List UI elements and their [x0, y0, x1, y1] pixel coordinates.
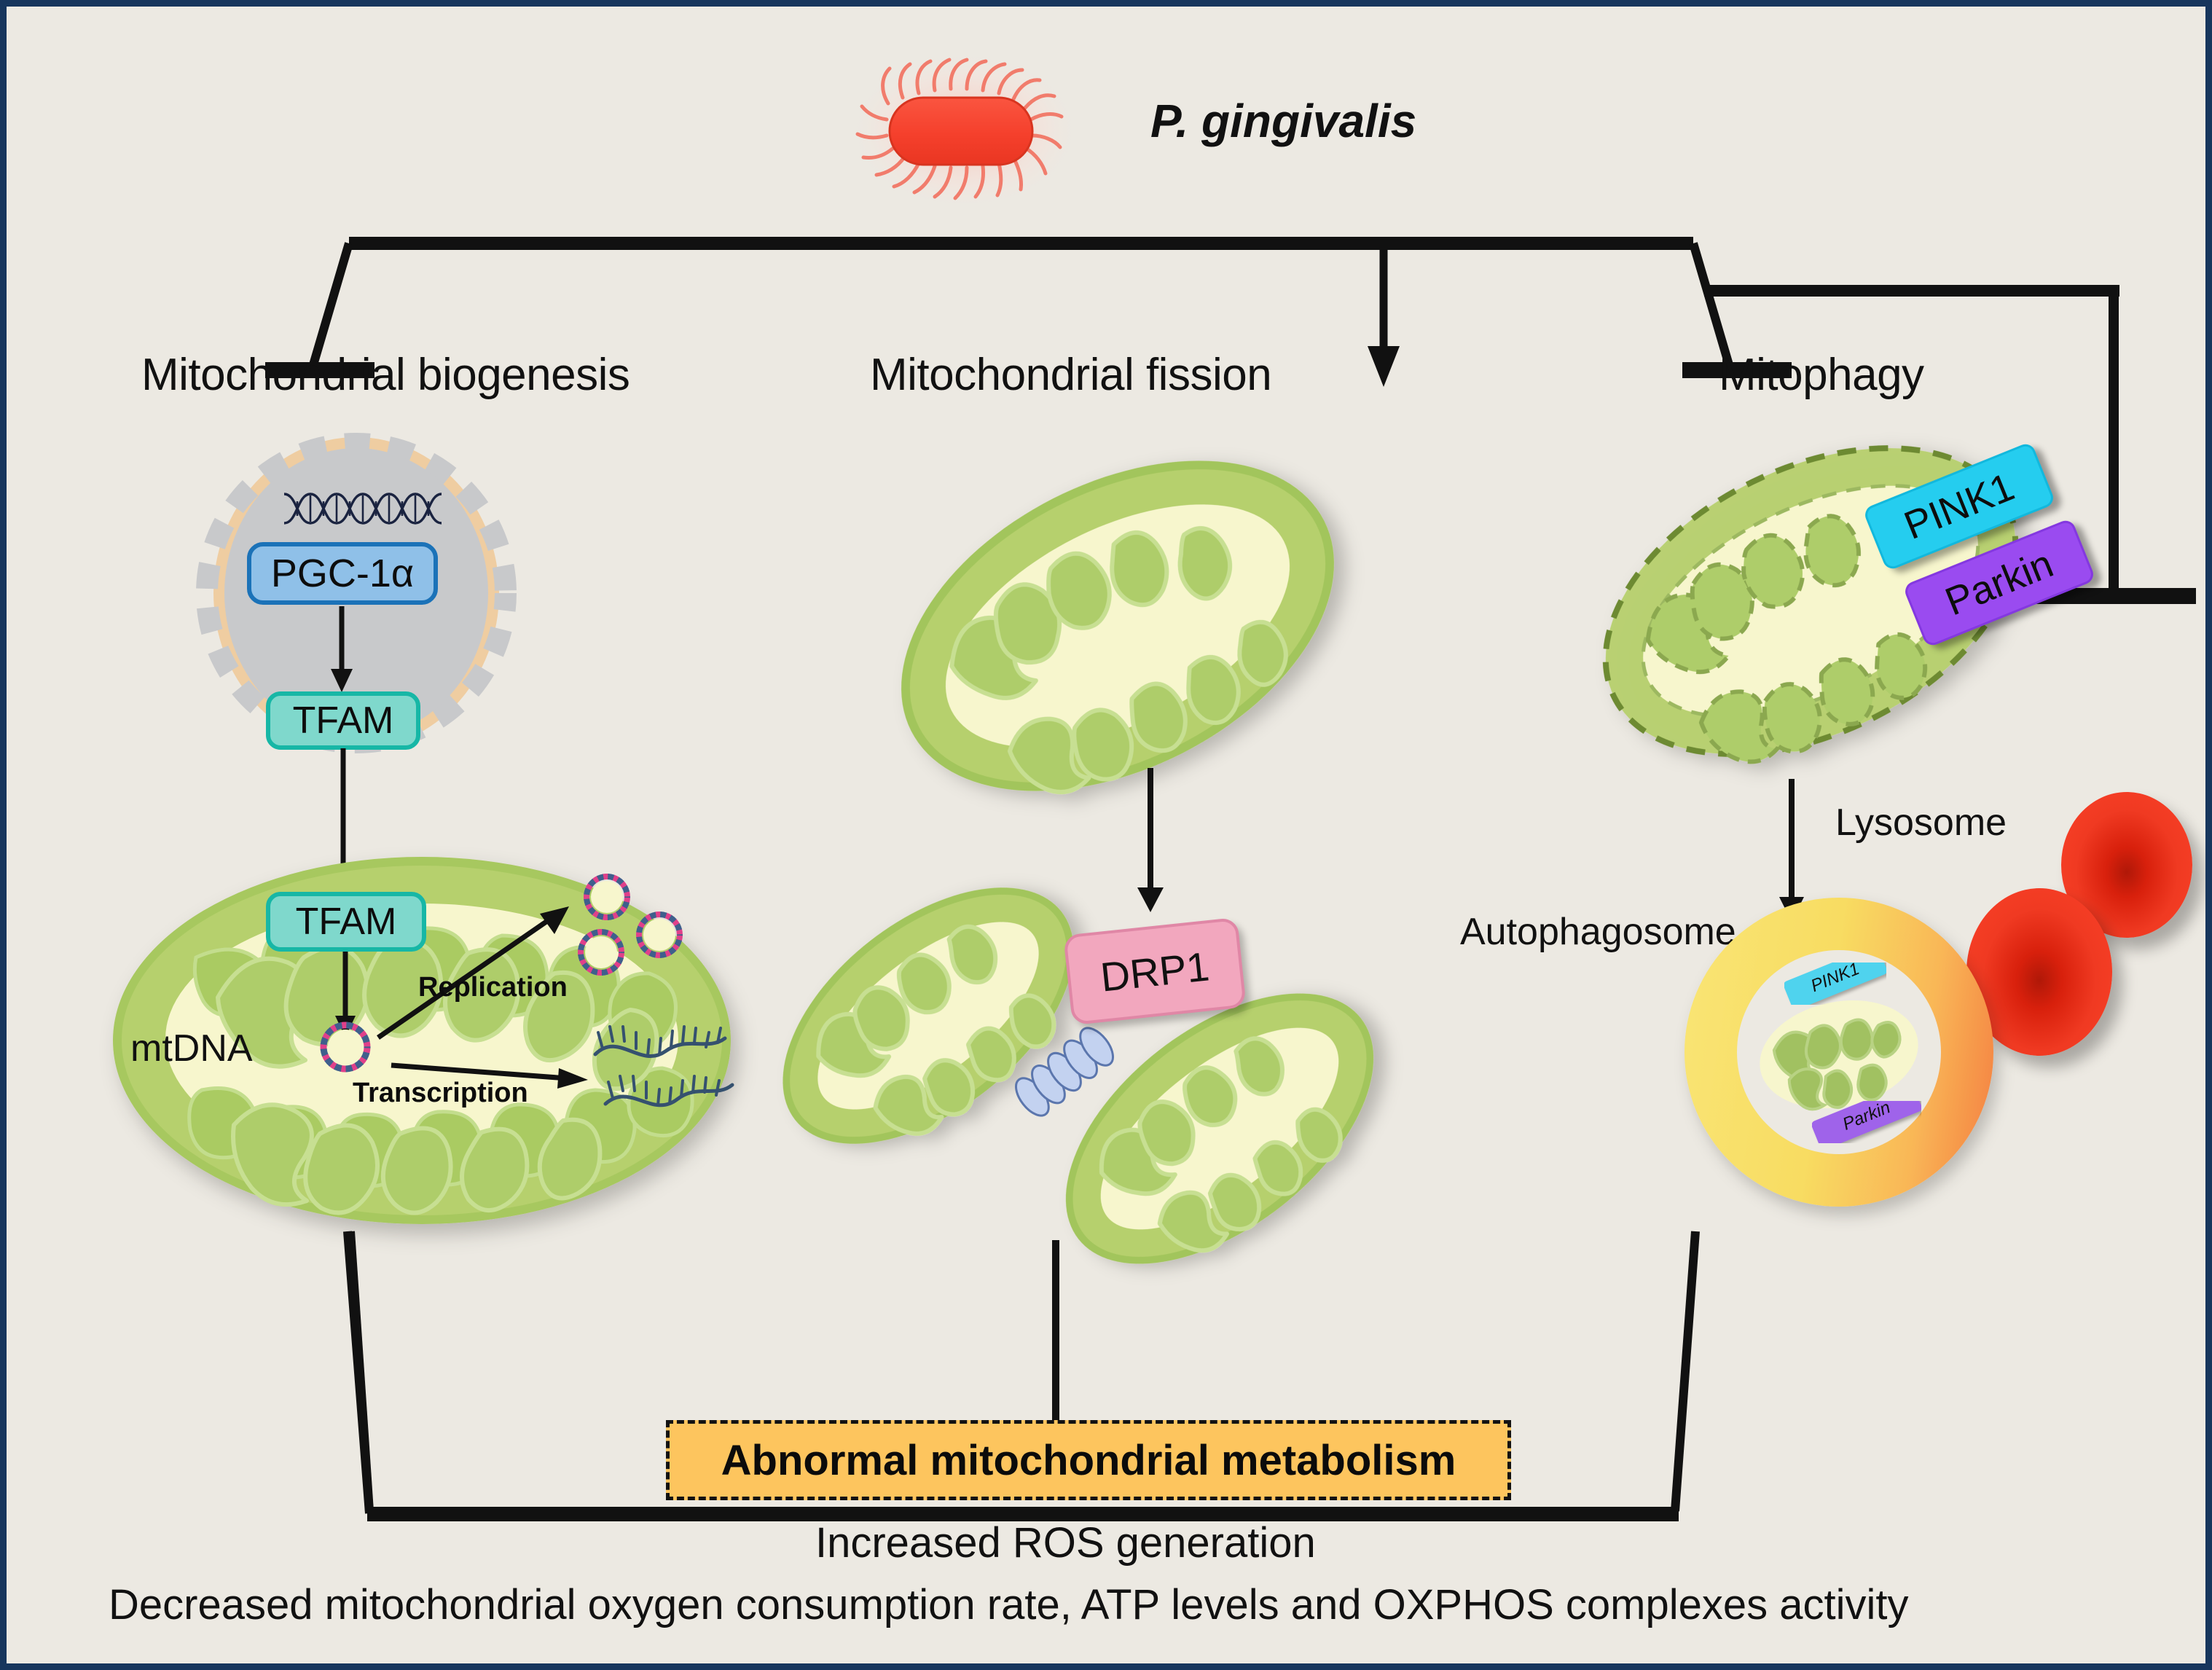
branch-title-fission: Mitochondrial fission	[870, 349, 1271, 401]
abnormal-metabolism-box: Abnormal mitochondrial metabolism	[666, 1420, 1511, 1500]
mrna-strands-icon	[589, 1027, 735, 1129]
pink1-cargo-label: PINK1	[1784, 963, 1886, 1005]
top-connector-network	[283, 218, 2192, 436]
outcome-line-2: Decreased mitochondrial oxygen consumpti…	[109, 1580, 1908, 1629]
outcome-line-1: Increased ROS generation	[815, 1518, 1316, 1567]
tfam-nucleus-node[interactable]: TFAM	[266, 691, 420, 750]
dna-helix-icon	[280, 490, 447, 528]
pgc1a-node[interactable]: PGC-1α	[247, 542, 438, 605]
branch-title-mitophagy: Mitophagy	[1719, 349, 1924, 401]
replication-label: Replication	[418, 972, 568, 1003]
mitochondrion-intact	[870, 444, 1365, 808]
activation-arrowhead-fission	[1368, 346, 1400, 387]
branch-title-biogenesis: Mitochondrial biogenesis	[141, 349, 630, 401]
drp1-node[interactable]: DRP1	[1063, 917, 1247, 1025]
figure-canvas: P. gingivalis	[0, 0, 2212, 1670]
pathogen-label: P. gingivalis	[1150, 94, 1416, 148]
autophagosome: PINK1 Parkin	[1668, 881, 2010, 1223]
transcription-label: Transcription	[353, 1078, 528, 1109]
mtdna-circles-icon	[566, 865, 705, 1003]
mtdna-label: mtDNA	[130, 1027, 253, 1070]
arrow-pgc-to-tfam	[320, 606, 364, 694]
lysosome-label: Lysosome	[1835, 801, 2007, 844]
parkin-cargo-label: Parkin	[1812, 1101, 1921, 1143]
mtdna-circle-icon	[313, 1014, 378, 1080]
bacterium-icon	[844, 47, 1085, 214]
